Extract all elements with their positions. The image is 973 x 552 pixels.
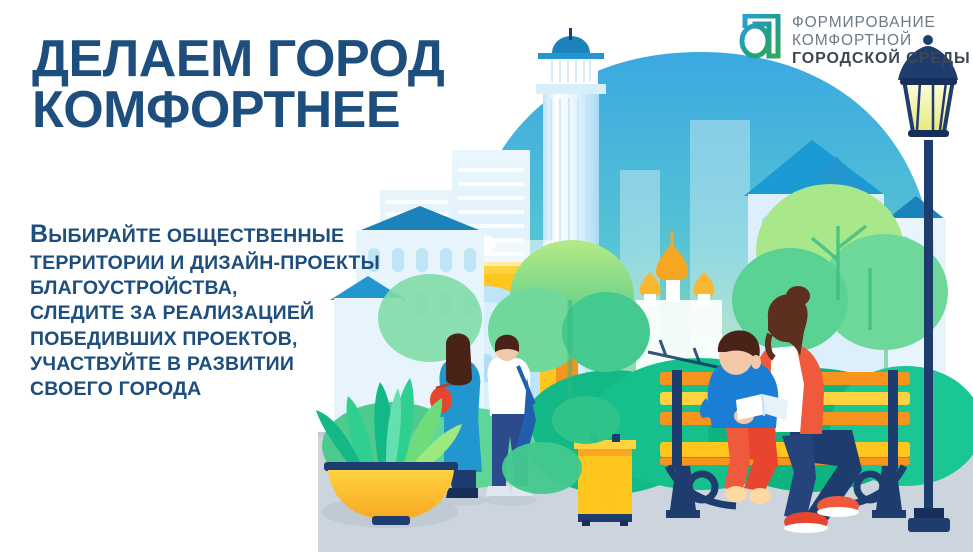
logo-line-2: КОМФОРТНОЙ [792, 32, 971, 50]
logo-wordmark: ФОРМИРОВАНИЕ КОМФОРТНОЙ ГОРОДСКОЙ СРЕДЫ [792, 14, 971, 68]
logo-line-1: ФОРМИРОВАНИЕ [792, 14, 971, 32]
body-line-3: БЛАГОУСТРОЙСТВА, [30, 276, 450, 301]
body-line-2: ТЕРРИТОРИИ И ДИЗАЙН-ПРОЕКТЫ [30, 251, 450, 276]
program-logo: ФОРМИРОВАНИЕ КОМФОРТНОЙ ГОРОДСКОЙ СРЕДЫ [733, 14, 971, 68]
body-line-1: ВЫБИРАЙТЕ ОБЩЕСТВЕННЫЕ [30, 218, 450, 251]
page-title: ДЕЛАЕМ ГОРОД КОМФОРТНЕЕ [32, 34, 552, 136]
body-line-1-rest: ЫБИРАЙТЕ ОБЩЕСТВЕННЫЕ [48, 225, 344, 247]
body-line-7: СВОЕГО ГОРОДА [30, 377, 450, 402]
headline-line-1: ДЕЛАЕМ ГОРОД [32, 30, 444, 88]
poster-root: ДЕЛАЕМ ГОРОД КОМФОРТНЕЕ ВЫБИРАЙТЕ ОБЩЕСТ… [0, 0, 973, 552]
logo-line-3: ГОРОДСКОЙ СРЕДЫ [792, 50, 971, 68]
body-copy: ВЫБИРАЙТЕ ОБЩЕСТВЕННЫЕ ТЕРРИТОРИИ И ДИЗА… [30, 218, 450, 403]
body-line-5: ПОБЕДИВШИХ ПРОЕКТОВ, [30, 327, 450, 352]
waste-bin [574, 434, 636, 526]
headline-line-2: КОМФОРТНЕЕ [32, 85, 552, 136]
body-line-4: СЛЕДИТЕ ЗА РЕАЛИЗАЦИЕЙ [30, 301, 450, 326]
formirovanie-komfortnoy-gorodskoy-sredy-logo-icon [733, 14, 783, 68]
body-lead-cap: В [30, 220, 48, 248]
body-line-6: УЧАСТВУЙТЕ В РАЗВИТИИ [30, 352, 450, 377]
